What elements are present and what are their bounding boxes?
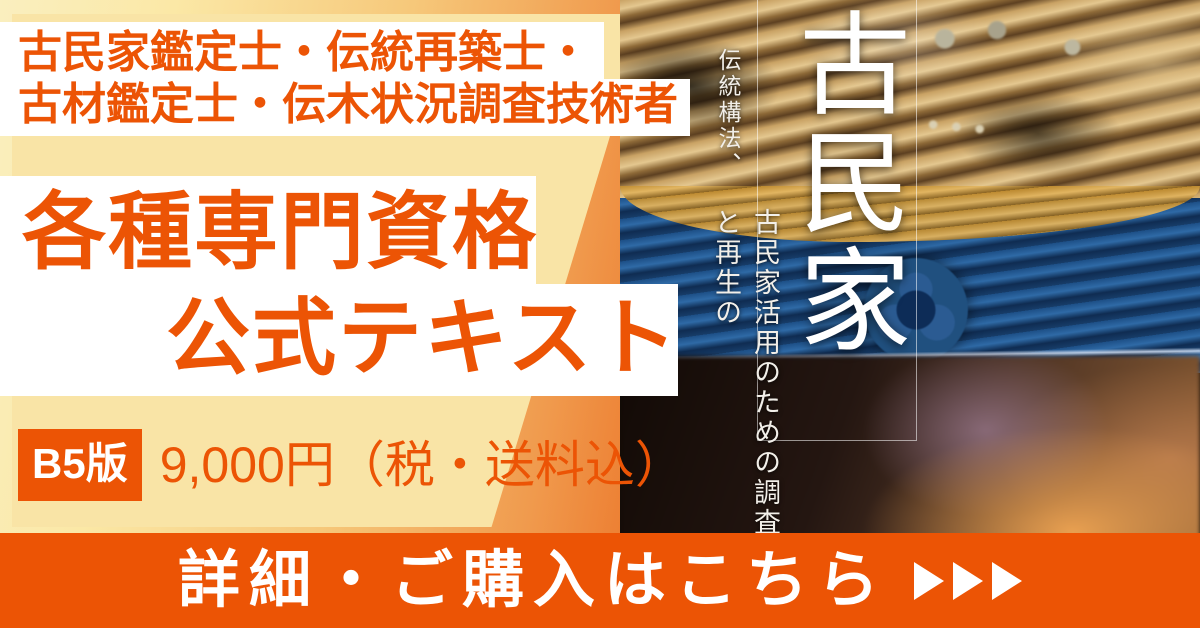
size-badge: B5版 — [18, 429, 142, 501]
promo-banner: 伝統構法、 古民家活用のための調査と再生の 古民家 古民家鑑定士・伝統再築士・ … — [0, 0, 1200, 628]
cta-button[interactable]: 詳細・ご購入はこちら — [0, 533, 1200, 628]
triangle-right-icon — [992, 562, 1022, 600]
headline-panel: 古民家鑑定士・伝統再築士・ 古材鑑定士・伝木状況調査技術者 — [0, 22, 690, 136]
title-line-2: 公式テキスト — [0, 284, 678, 396]
headline-line-1: 古民家鑑定士・伝統再築士・ — [0, 22, 604, 79]
headline-line-2: 古材鑑定士・伝木状況調査技術者 — [0, 79, 690, 136]
book-cover-photo: 伝統構法、 古民家活用のための調査と再生の 古民家 — [620, 0, 1200, 541]
cta-label: 詳細・ご購入はこちら — [178, 550, 888, 612]
price-row: B5版 9,000円（税・送料込） — [18, 429, 685, 501]
triangle-right-icon — [914, 562, 944, 600]
cta-arrow-group — [914, 562, 1022, 600]
title-line-1: 各種専門資格 — [0, 176, 536, 284]
cover-title: 古民家 — [763, 6, 909, 360]
triangle-right-icon — [953, 562, 983, 600]
cover-subtitle-line1: 伝統構法、 — [710, 48, 744, 198]
price-amount: 9,000円（税・送料込） — [160, 440, 685, 490]
